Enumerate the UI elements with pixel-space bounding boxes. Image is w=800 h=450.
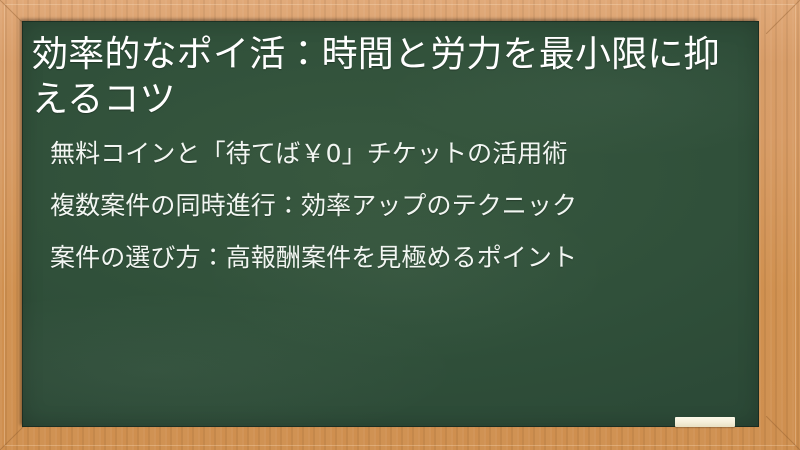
- list-item: 案件の選び方：高報酬案件を見極めるポイント: [50, 245, 745, 270]
- topic-list: 無料コインと「待てば￥0」チケットの活用術 複数案件の同時進行：効率アップのテク…: [32, 141, 745, 270]
- page-title: 効率的なポイ活：時間と労力を最小限 に抑えるコツ: [32, 27, 744, 123]
- chalk-stick: [675, 417, 735, 427]
- frame-miter-top-right-icon: [766, 0, 800, 34]
- wooden-frame: 効率的なポイ活：時間と労力を最小限 に抑えるコツ 無料コインと「待てば￥0」チケ…: [0, 0, 800, 450]
- board-content: 効率的なポイ活：時間と労力を最小限 に抑えるコツ 無料コインと「待てば￥0」チケ…: [22, 21, 759, 270]
- chalkboard: 効率的なポイ活：時間と労力を最小限 に抑えるコツ 無料コインと「待てば￥0」チケ…: [22, 21, 759, 427]
- list-item: 複数案件の同時進行：効率アップのテクニック: [50, 193, 745, 218]
- title-line-1: 効率的なポイ活：時間と労力を最小限: [32, 34, 647, 75]
- list-item: 無料コインと「待てば￥0」チケットの活用術: [50, 141, 745, 166]
- frame-miter-bottom-right-icon: [766, 416, 800, 450]
